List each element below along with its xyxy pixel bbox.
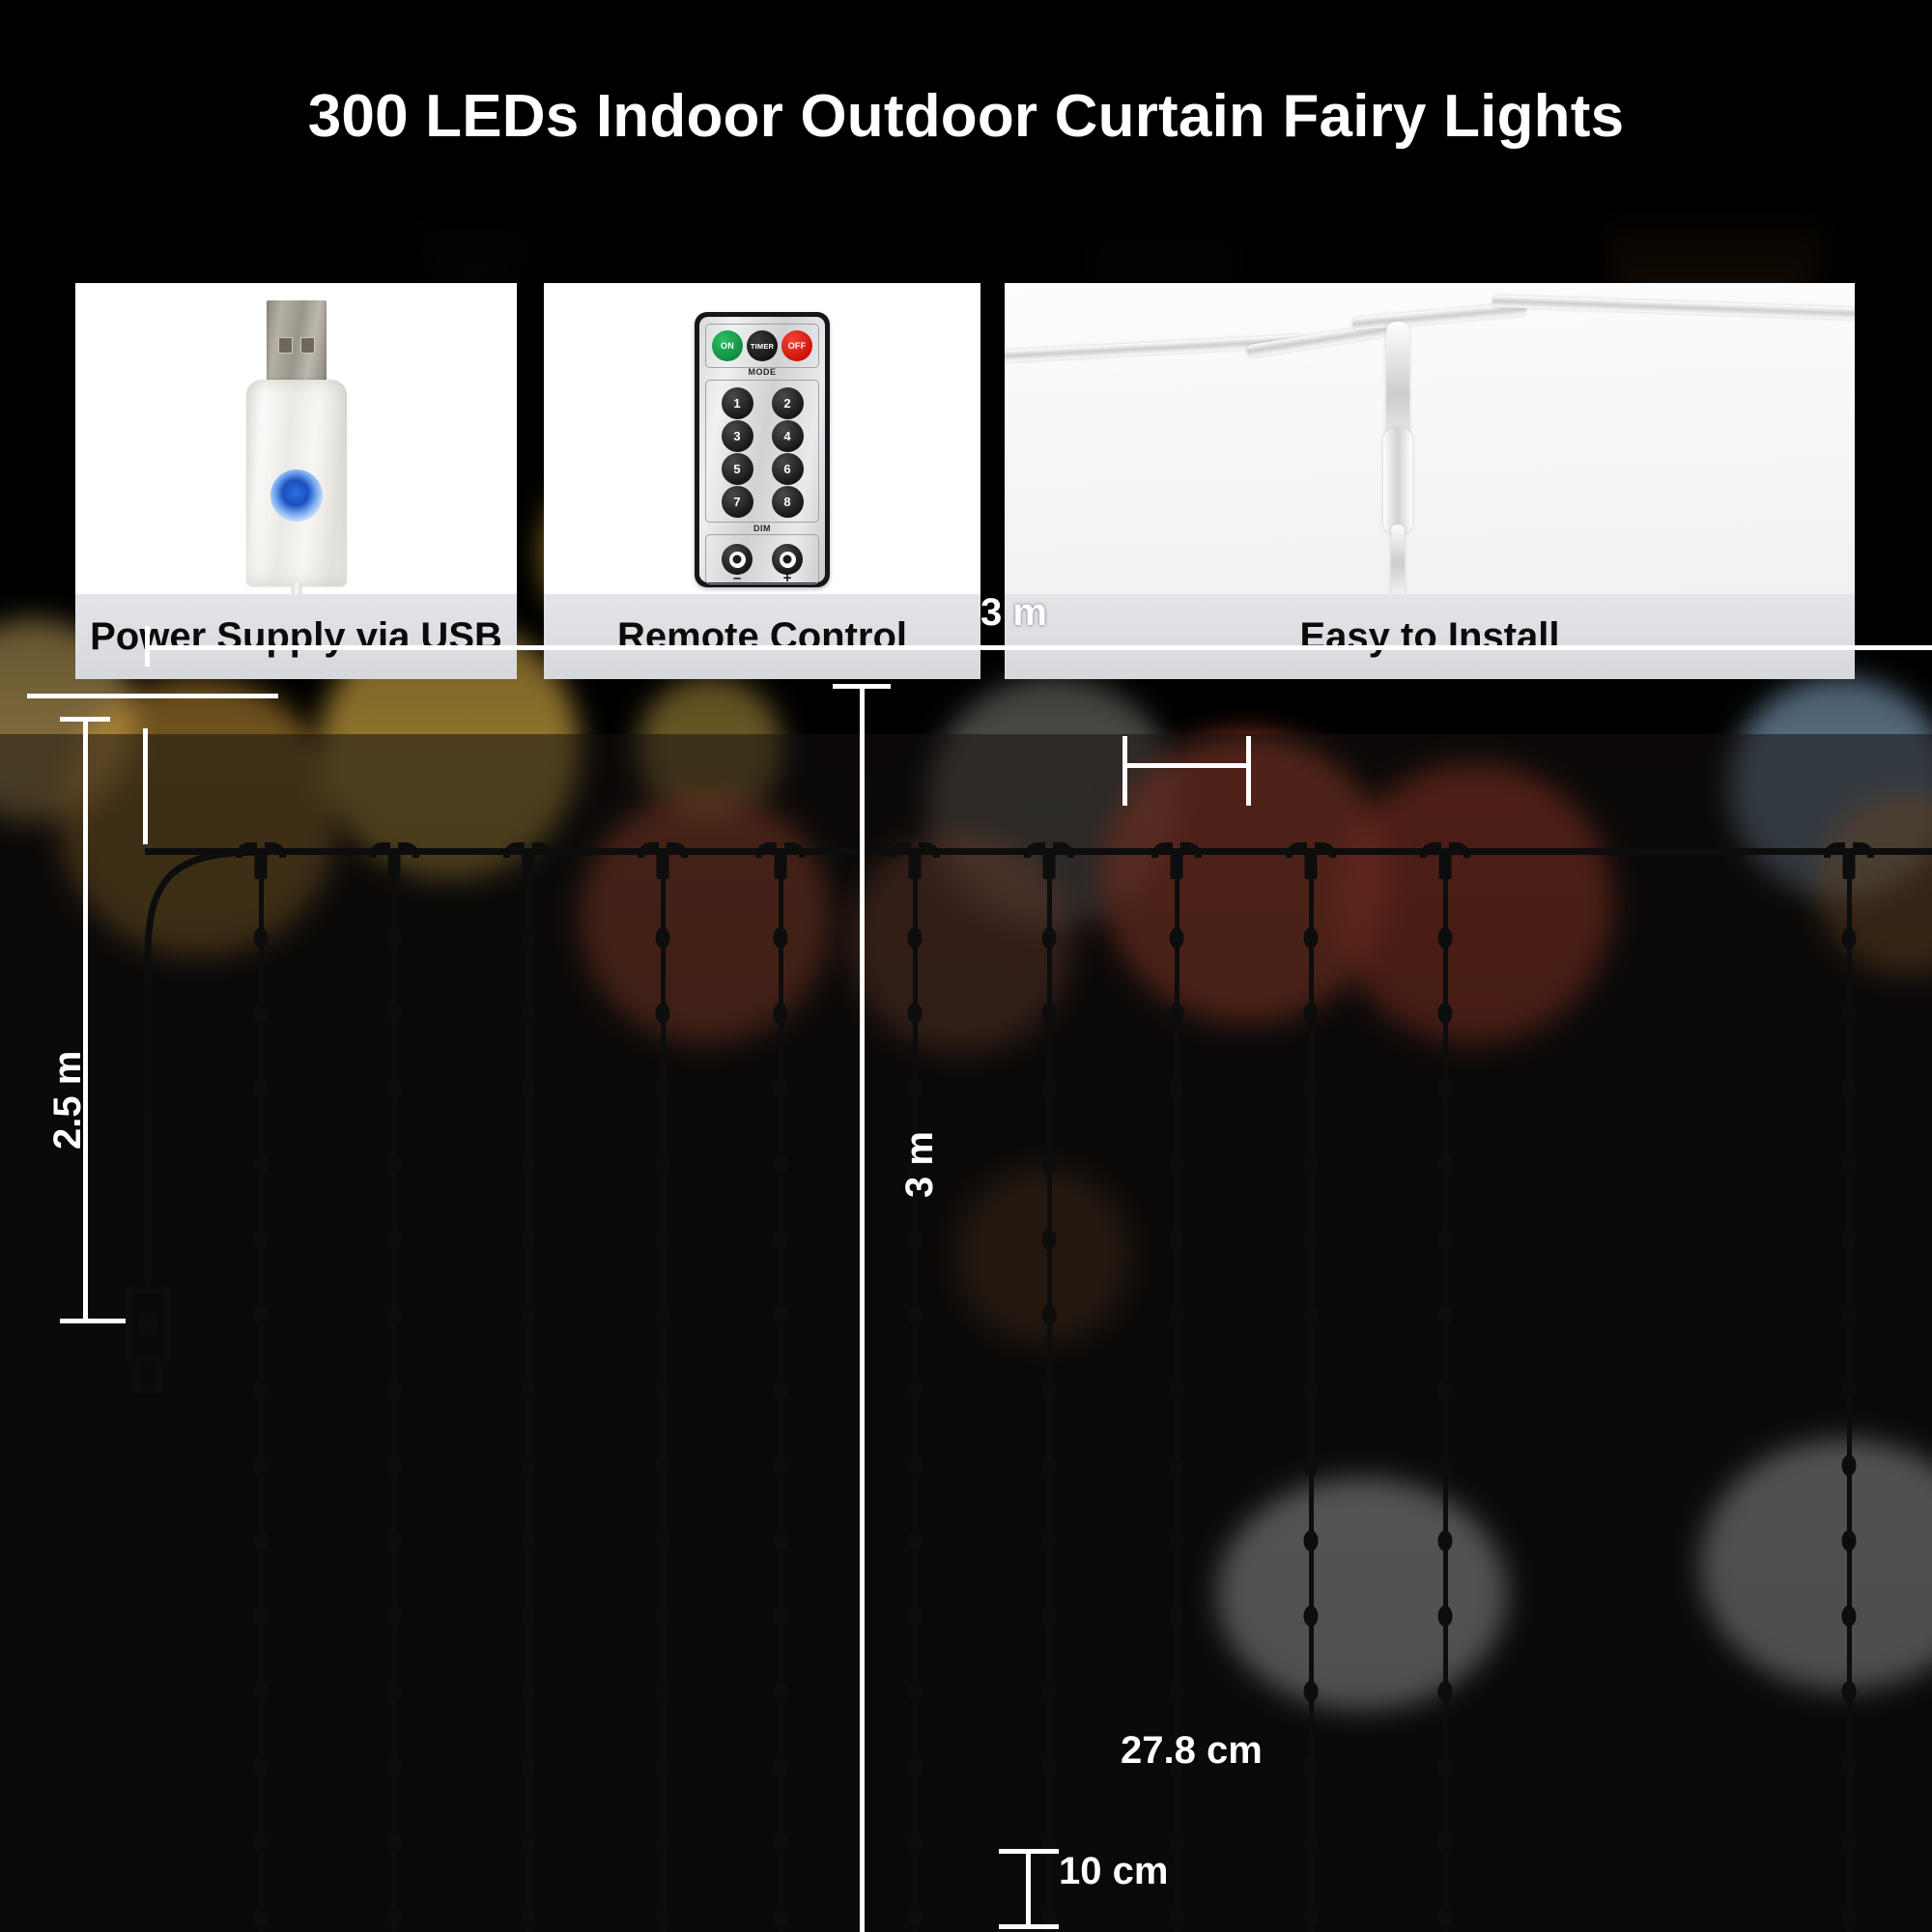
led-bulb — [1170, 1530, 1184, 1551]
led-bulb — [656, 1078, 670, 1099]
spacing-dim-tick-left — [1122, 736, 1127, 806]
led-bulb — [1042, 1756, 1057, 1777]
usb-plug-icon — [239, 300, 355, 590]
led-bulb — [522, 1681, 536, 1702]
led-bulb — [1170, 1832, 1184, 1853]
remote-mode-grid: 1 2 3 4 5 6 7 8 — [705, 380, 819, 523]
led-bulb — [1438, 1153, 1453, 1175]
wire-shoulder — [890, 842, 911, 858]
led-bulb — [254, 1605, 269, 1627]
led-bulb — [774, 1605, 788, 1627]
led-bulb — [522, 1003, 536, 1024]
led-bulb — [908, 1530, 923, 1551]
led-bulb — [774, 1078, 788, 1099]
led-bulb — [656, 1681, 670, 1702]
led-bulb — [1042, 1078, 1057, 1099]
wire-shoulder — [667, 842, 688, 858]
led-bulb — [1304, 927, 1319, 949]
led-bulb — [1304, 1379, 1319, 1401]
height-dim-line — [83, 717, 88, 1323]
brightness-up-icon[interactable]: + — [772, 544, 803, 575]
led-bulb — [1170, 1455, 1184, 1476]
led-bulb — [1304, 1605, 1319, 1627]
led-bulb — [656, 1304, 670, 1325]
led-bulb — [1042, 927, 1057, 949]
width-label: 3 m — [980, 591, 1047, 635]
wire-shoulder — [1853, 842, 1874, 858]
remote-dim-label: DIM — [705, 524, 819, 533]
led-bulb — [1042, 1229, 1057, 1250]
panel-caption-easy-install: Easy to Install — [1005, 594, 1855, 679]
led-bulb — [656, 1455, 670, 1476]
height-dim-tick-bottom — [60, 1319, 126, 1323]
led-bulb — [1438, 1530, 1453, 1551]
remote-dim-minus-sign: – — [722, 571, 753, 585]
led-bulb — [774, 1681, 788, 1702]
led-bulb — [1842, 1907, 1857, 1928]
led-bulb — [1170, 1229, 1184, 1250]
remote-dim-row: – + — [705, 534, 819, 584]
wire-shoulder — [638, 842, 659, 858]
led-bulb — [774, 1455, 788, 1476]
curtain-light-dimension-diagram: 3 m 2.5 m 27.8 cm 10 cm 3 m — [0, 734, 1932, 1932]
led-bulb — [1438, 1229, 1453, 1250]
led-bulb — [522, 1907, 536, 1928]
led-bulb — [774, 1832, 788, 1853]
led-bulb — [1042, 1003, 1057, 1024]
led-bulb — [908, 1379, 923, 1401]
led-spacing-dim-line — [1026, 1849, 1031, 1928]
spacing-dim-line — [1122, 763, 1250, 768]
strand-length-label: 3 m — [898, 1131, 942, 1198]
remote-timer-button[interactable]: TIMER — [747, 330, 778, 361]
brightness-down-icon[interactable]: – — [722, 544, 753, 575]
led-bulb — [522, 1832, 536, 1853]
led-bulb — [1842, 1455, 1857, 1476]
led-bulb — [522, 1530, 536, 1551]
wire-shoulder — [398, 842, 419, 858]
remote-power-row: ON TIMER OFF — [705, 324, 819, 368]
wire-shoulder — [1286, 842, 1307, 858]
led-bulb — [908, 1605, 923, 1627]
led-bulb — [1170, 1003, 1184, 1024]
led-bulb — [1438, 1907, 1453, 1928]
led-bulb — [656, 1756, 670, 1777]
led-bulb — [1842, 1078, 1857, 1099]
led-bulb — [1304, 1681, 1319, 1702]
wire-shoulder — [1449, 842, 1470, 858]
sun-glyph — [780, 552, 796, 568]
led-bulb — [1842, 1229, 1857, 1250]
remote-mode-button-2[interactable]: 2 — [772, 387, 804, 419]
led-bulb — [908, 1455, 923, 1476]
led-bulb — [1438, 1304, 1453, 1325]
led-bulb — [1438, 1003, 1453, 1024]
led-bulb — [656, 1379, 670, 1401]
remote-off-button[interactable]: OFF — [781, 330, 812, 361]
led-bulb — [1842, 1304, 1857, 1325]
led-bulb — [1842, 1832, 1857, 1853]
remote-mode-button-6[interactable]: 6 — [772, 453, 804, 485]
spacing-dim-tick-right — [1246, 736, 1251, 806]
led-bulb — [254, 1681, 269, 1702]
led-bulb — [387, 1530, 402, 1551]
strand-spacing-label: 27.8 cm — [1121, 1729, 1263, 1773]
led-bulb — [1042, 1304, 1057, 1325]
led-bulb — [522, 1756, 536, 1777]
led-bulb — [774, 1229, 788, 1250]
led-bulb — [1438, 1379, 1453, 1401]
led-bulb — [774, 1003, 788, 1024]
led-bulb — [254, 1832, 269, 1853]
led-bulb — [908, 1304, 923, 1325]
led-bulb — [522, 927, 536, 949]
led-bulb — [656, 1530, 670, 1551]
led-bulb — [656, 1153, 670, 1175]
wire-junction-photo — [1005, 283, 1855, 594]
led-bulb — [656, 1832, 670, 1853]
remote-control-photo: ON TIMER OFF MODE 1 2 3 4 5 6 7 — [544, 283, 980, 594]
led-bulb — [1042, 1455, 1057, 1476]
led-bulb — [774, 1304, 788, 1325]
led-bulb — [1842, 1153, 1857, 1175]
led-bulb — [1438, 1455, 1453, 1476]
usb-cable — [291, 582, 301, 594]
led-bulb — [387, 1756, 402, 1777]
led-bulb — [1042, 1530, 1057, 1551]
led-bulb — [387, 1832, 402, 1853]
wire-shoulder — [1024, 842, 1045, 858]
wire-shoulder — [1315, 842, 1336, 858]
remote-mode-button-3[interactable]: 3 — [722, 420, 753, 452]
led-bulb — [656, 1605, 670, 1627]
led-bulb — [1304, 1229, 1319, 1250]
usb-plug-photo — [75, 283, 517, 594]
led-bulb — [1170, 1681, 1184, 1702]
led-bulb — [522, 1605, 536, 1627]
wire-shoulder — [1151, 842, 1173, 858]
led-bulb — [1438, 1681, 1453, 1702]
strand-length-dim-line — [860, 684, 865, 1932]
width-dim-extension-left — [143, 728, 148, 844]
product-infographic: 300 LEDs Indoor Outdoor Curtain Fairy Li… — [0, 0, 1932, 1932]
led-bulb — [1842, 927, 1857, 949]
height-label: 2.5 m — [46, 1051, 90, 1150]
led-bulb — [1170, 927, 1184, 949]
led-bulb — [1304, 1304, 1319, 1325]
led-bulb — [1304, 1907, 1319, 1928]
led-bulb — [387, 1907, 402, 1928]
led-bulb — [1842, 1681, 1857, 1702]
led-bulb — [1304, 1003, 1319, 1024]
usb-connector-icon — [267, 300, 327, 384]
led-bulb — [387, 1681, 402, 1702]
led-bulb — [656, 1229, 670, 1250]
led-bulb — [254, 1455, 269, 1476]
led-bulb — [1042, 1605, 1057, 1627]
height-dim-tick-top — [60, 717, 110, 722]
wire-shoulder — [1824, 842, 1845, 858]
sun-glyph — [729, 552, 746, 568]
led-bulb — [656, 1907, 670, 1928]
led-bulb — [908, 1681, 923, 1702]
led-bulb — [1042, 1153, 1057, 1175]
remote-mode-button-1[interactable]: 1 — [722, 387, 753, 419]
wire-shoulder — [1053, 842, 1074, 858]
led-bulb — [1042, 1681, 1057, 1702]
led-bulb — [1438, 1832, 1453, 1853]
led-bulb — [1438, 1756, 1453, 1777]
led-bulb — [1438, 1078, 1453, 1099]
remote-mode-button-7[interactable]: 7 — [722, 486, 753, 518]
led-bulb — [1842, 1605, 1857, 1627]
wire-shoulder — [919, 842, 940, 858]
led-bulb — [1170, 1078, 1184, 1099]
led-bulb — [254, 1907, 269, 1928]
height-dim-top-tick — [27, 694, 278, 698]
led-bulb — [1304, 1530, 1319, 1551]
led-bulb — [1170, 1907, 1184, 1928]
led-bulb — [254, 1530, 269, 1551]
feature-panel-remote-control: ON TIMER OFF MODE 1 2 3 4 5 6 7 — [544, 283, 980, 679]
led-bulb — [387, 1455, 402, 1476]
led-bulb — [254, 1756, 269, 1777]
wire-shoulder — [784, 842, 806, 858]
panel-caption-power-supply: Power Supply via USB — [75, 594, 517, 679]
led-bulb — [908, 1907, 923, 1928]
remote-on-button[interactable]: ON — [712, 330, 743, 361]
width-dim-tick-left — [145, 626, 150, 667]
led-bulb — [908, 1003, 923, 1024]
remote-mode-label: MODE — [705, 367, 819, 377]
led-bulb — [1170, 1304, 1184, 1325]
led-bulb — [1842, 1379, 1857, 1401]
led-bulb — [908, 1756, 923, 1777]
led-bulb — [254, 1379, 269, 1401]
led-bulb — [774, 1530, 788, 1551]
feature-panel-easy-install: Easy to Install — [1005, 283, 1855, 679]
led-bulb — [1170, 1379, 1184, 1401]
led-bulb — [774, 1756, 788, 1777]
led-spacing-label: 10 cm — [1059, 1850, 1168, 1893]
plug-indicator-dot — [137, 1314, 158, 1335]
remote-dim-plus-sign: + — [772, 571, 803, 585]
wire-shoulder — [1180, 842, 1202, 858]
led-bulb — [1842, 1530, 1857, 1551]
led-bulb — [908, 927, 923, 949]
led-bulb — [522, 1304, 536, 1325]
led-bulb — [1842, 1003, 1857, 1024]
led-bulb — [1438, 927, 1453, 949]
led-bulb — [387, 1605, 402, 1627]
led-bulb — [774, 1907, 788, 1928]
led-bulb — [522, 1078, 536, 1099]
led-bulb — [774, 1379, 788, 1401]
width-dim-line — [145, 645, 1932, 650]
led-bulb — [656, 927, 670, 949]
led-bulb — [656, 1003, 670, 1024]
led-bulb — [908, 1832, 923, 1853]
clear-wire-icon — [1005, 283, 1855, 594]
feature-panel-power-supply: Power Supply via USB — [75, 283, 517, 679]
led-bulb — [774, 927, 788, 949]
remote-mode-button-4[interactable]: 4 — [772, 420, 804, 452]
led-bulb — [1842, 1756, 1857, 1777]
remote-mode-button-5[interactable]: 5 — [722, 453, 753, 485]
led-bulb — [1438, 1605, 1453, 1627]
led-bulb — [774, 1153, 788, 1175]
remote-control-icon: ON TIMER OFF MODE 1 2 3 4 5 6 7 — [695, 312, 830, 587]
led-bulb — [1304, 1078, 1319, 1099]
led-bulb — [1304, 1832, 1319, 1853]
led-bulb — [1304, 1153, 1319, 1175]
led-bulb — [522, 1379, 536, 1401]
led-bulb — [1304, 1455, 1319, 1476]
wire-shoulder — [755, 842, 777, 858]
led-bulb — [387, 1379, 402, 1401]
led-bulb — [908, 1078, 923, 1099]
led-bulb — [522, 1229, 536, 1250]
led-bulb — [908, 1229, 923, 1250]
led-bulb — [1170, 1153, 1184, 1175]
led-bulb — [1304, 1756, 1319, 1777]
led-bulb — [1042, 1379, 1057, 1401]
led-bulb — [522, 1455, 536, 1476]
led-bulb — [522, 1153, 536, 1175]
page-title: 300 LEDs Indoor Outdoor Curtain Fairy Li… — [0, 82, 1932, 151]
blue-led-indicator-icon — [270, 469, 323, 522]
wire-shoulder — [503, 842, 525, 858]
remote-mode-button-8[interactable]: 8 — [772, 486, 804, 518]
plug-tip — [133, 1360, 162, 1393]
wire-shoulder — [532, 842, 554, 858]
led-bulb — [1170, 1605, 1184, 1627]
wire-shoulder — [1420, 842, 1441, 858]
panel-caption-remote-control: Remote Control — [544, 594, 980, 679]
